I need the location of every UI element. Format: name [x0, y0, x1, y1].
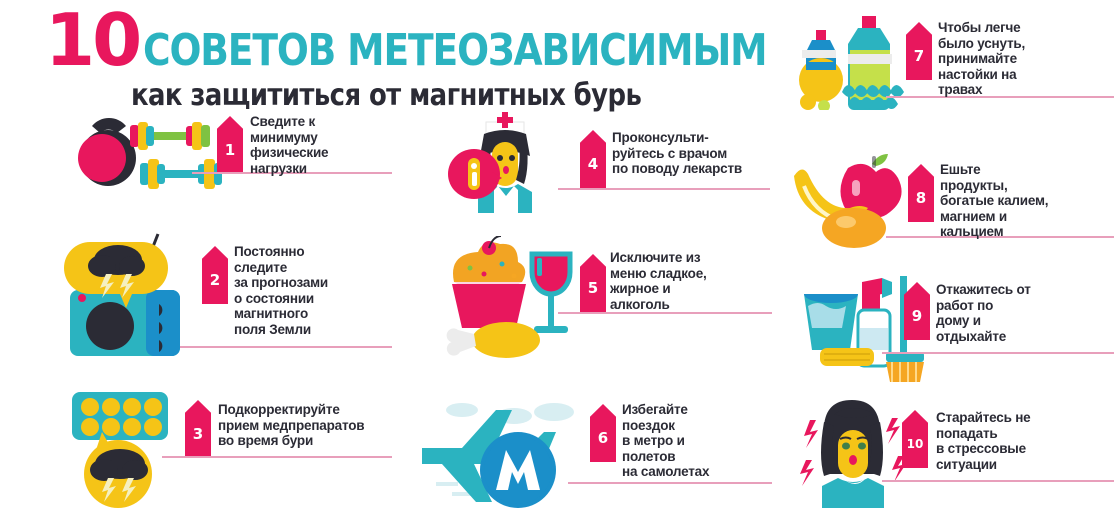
tip-item-8: 8 Ешьте продукты, богатые калием, магние…: [790, 152, 1114, 250]
tip-text-1: Сведите к минимуму физические нагрузки: [250, 114, 328, 176]
tip-text-4: Проконсульти- руйтесь с врачом по поводу…: [612, 130, 742, 177]
tip-text-9: Откажитесь от работ по дому и отдыхайте: [936, 282, 1031, 344]
tip-rule-5: [558, 312, 772, 314]
title-row: 10 СОВЕТОВ МЕТЕОЗАВИСИМЫМ: [45, 4, 765, 76]
tip-text-10: Старайтесь не попадать в стрессовые ситу…: [936, 410, 1030, 472]
tip-item-6: 6 Избегайте поездок в метро и полетов на…: [422, 396, 772, 508]
tip-rule-3: [162, 456, 392, 458]
stressed-woman-icon: [790, 398, 920, 508]
tip-rule-4: [558, 188, 770, 190]
tip-badge-4: 4: [580, 130, 606, 188]
tip-rule-9: [882, 352, 1114, 354]
tip-text-7: Чтобы легче было уснуть, принимайте наст…: [938, 20, 1025, 98]
tip-text-6: Избегайте поездок в метро и полетов на с…: [622, 402, 709, 480]
tip-text-5: Исключите из меню сладкое, жирное и алко…: [610, 250, 707, 312]
tip-badge-6: 6: [590, 404, 616, 462]
cupcake-wine-chicken-icon: [432, 236, 582, 360]
tip-item-2: 2 Постоянно следите за прогнозами о сост…: [62, 228, 392, 360]
tip-badge-5: 5: [580, 254, 606, 312]
headline-number: 10: [45, 4, 139, 76]
radio-storm-icon: [62, 228, 207, 360]
tip-item-7: 7 Чтобы легче было уснуть, принимайте на…: [790, 6, 1114, 110]
tip-item-9: 9 Откажитесь от работ по дому и отдыхайт…: [790, 272, 1114, 384]
tip-text-3: Подкорректируйте прием медпрепаратов во …: [218, 402, 364, 449]
tip-item-1: 1 Сведите к минимуму физические нагрузки: [62, 108, 392, 200]
headline-title: СОВЕТОВ МЕТЕОЗАВИСИМЫМ: [143, 29, 766, 73]
nurse-doctor-icon: [440, 108, 570, 213]
tip-item-3: 3 Подкорректируйте прием медпрепаратов в…: [62, 388, 392, 508]
tip-rule-10: [882, 480, 1114, 482]
tip-text-8: Ешьте продукты, богатые калием, магнием …: [940, 162, 1048, 240]
infographic-canvas: 10 СОВЕТОВ МЕТЕОЗАВИСИМЫМ как защититься…: [0, 0, 1114, 513]
tip-text-2: Постоянно следите за прогнозами о состоя…: [234, 244, 328, 337]
pills-storm-icon: [62, 388, 192, 508]
tip-item-4: 4 Проконсульти- руйтесь с врачом по пово…: [440, 108, 770, 213]
tip-rule-6: [568, 482, 772, 484]
tip-rule-2: [180, 346, 392, 348]
airplane-metro-icon: [422, 396, 592, 508]
page-header: 10 СОВЕТОВ МЕТЕОЗАВИСИМЫМ как защититься…: [45, 4, 765, 104]
dumbbell-kettlebell-icon: [62, 108, 222, 200]
tip-item-10: 10 Старайтесь не попадать в стрессовые с…: [790, 398, 1114, 508]
tip-item-5: 5 Исключите из меню сладкое, жирное и ал…: [432, 236, 772, 360]
